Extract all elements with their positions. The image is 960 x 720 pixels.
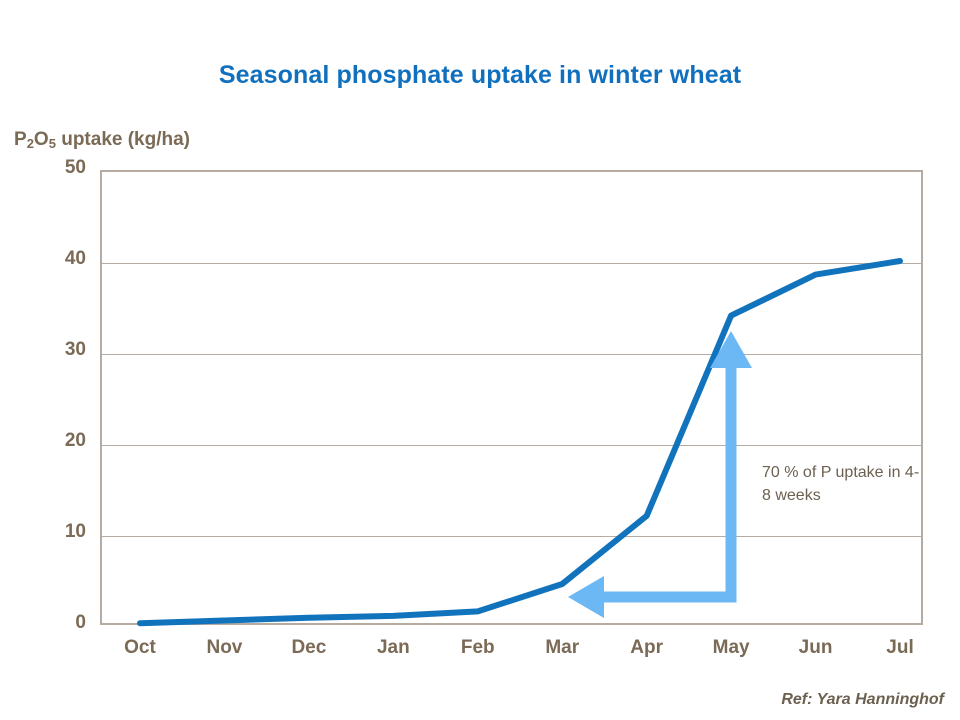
annotation-label: 70 % of P uptake in 4-8 weeks [762,461,922,507]
bent-double-arrow-icon [568,331,752,618]
annotation-arrow-layer [0,0,960,720]
chart-root: Seasonal phosphate uptake in winter whea… [0,0,960,720]
arrow-shaft [585,352,731,597]
arrow-head-up-icon [710,331,752,368]
reference-label: Ref: Yara Hanninghof [0,691,944,709]
arrow-head-left-icon [568,576,604,618]
